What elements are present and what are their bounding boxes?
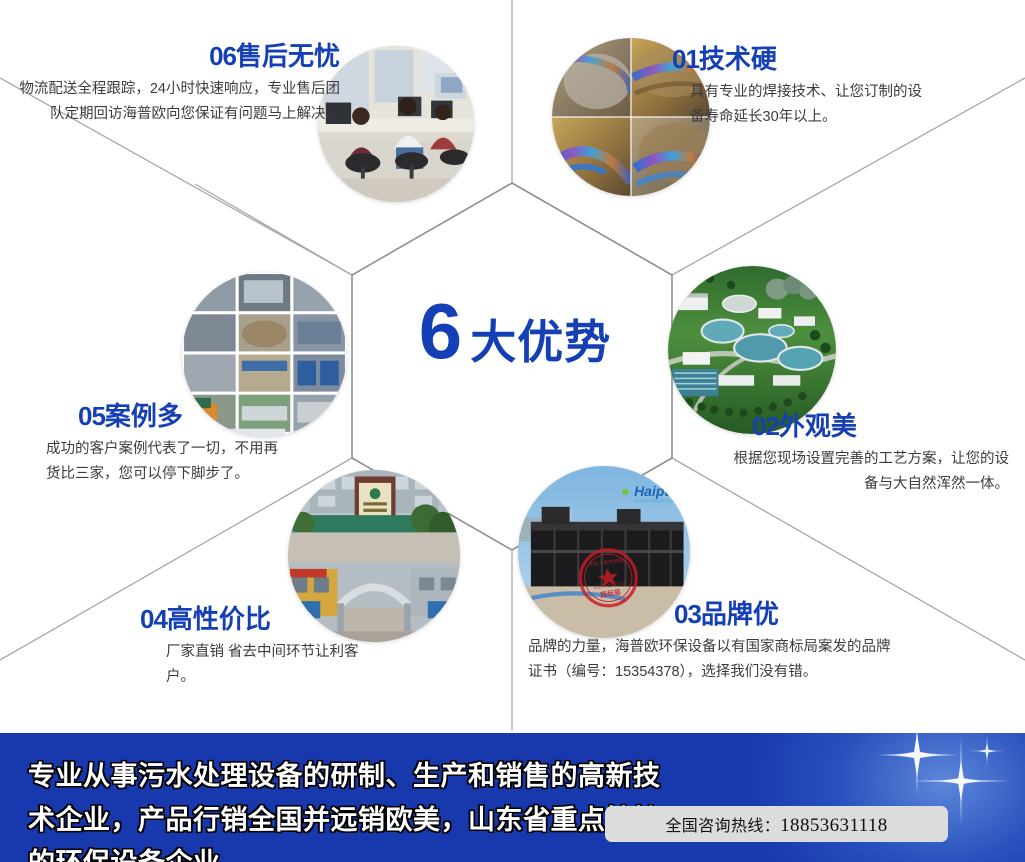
feature-01-body: 具有专业的焊接技术、让您订制的设备寿命延长30年以上。 [690,80,935,131]
feature-03-number: 03 [674,599,701,629]
feature-05-title: 05案例多 [78,402,318,431]
hotline-box[interactable]: 全国咨询热线：18853631118 [605,806,948,842]
feature-04-title: 04高性价比 [140,605,410,634]
feature-05-body: 成功的客户案例代表了一切，不用再货比三家，您可以停下脚步了。 [46,437,278,488]
feature-block-01: 01技术硬 具有专业的焊接技术、让您订制的设备寿命延长30年以上。 [672,45,1007,130]
feature-02-body: 根据您现场设置完善的工艺方案，让您的设备与大自然浑然一体。 [724,447,1009,498]
center-number: 6 [419,292,460,370]
sparkle-star-icon [969,734,1005,768]
feature-02-number: 02 [752,411,779,441]
feature-block-05: 05案例多 成功的客户案例代表了一切，不用再货比三家，您可以停下脚步了。 [28,402,318,487]
feature-04-body: 厂家直销 省去中间环节让利客户。 [166,640,371,691]
customer-service-office-photo [318,46,474,202]
infographic-canvas: Haipuou 商标局 中华人民共和国 2014年11月21日 [0,0,1025,862]
feature-03-title: 03品牌优 [674,600,928,629]
center-text: 大优势 [470,319,611,365]
feature-05-title-text: 案例多 [105,401,183,431]
sparkle-icons [765,733,1025,862]
feature-04-title-text: 高性价比 [167,604,271,634]
feature-03-body: 品牌的力量，海普欧环保设备以有国家商标局案发的品牌证书（编号：15354378）… [528,635,900,686]
banner-glow [745,733,1025,862]
feature-06-body: 物流配送全程跟踪，24小时快速响应，专业售后团队定期回访海普欧向您保证有问题马上… [10,77,340,128]
banner-slogan: 专业从事污水处理设备的研制、生产和销售的高新技术企业，产品行销全国并远销欧美，山… [28,755,668,862]
hotline-text: 全国咨询热线：18853631118 [665,812,887,837]
feature-block-02: 02外观美 根据您现场设置完善的工艺方案，让您的设备与大自然浑然一体。 [724,412,1016,497]
feature-06-number: 06 [209,41,236,71]
hotline-label: 全国咨询热线： [665,818,780,835]
bottom-banner: 专业从事污水处理设备的研制、生产和销售的高新技术企业，产品行销全国并远销欧美，山… [0,733,1025,862]
feature-06-title-text: 售后无忧 [236,41,340,71]
feature-block-03: 03品牌优 品牌的力量，海普欧环保设备以有国家商标局案发的品牌证书（编号：153… [528,600,928,685]
center-headline: 6 大优势 [390,292,640,392]
feature-04-number: 04 [140,604,167,634]
feature-block-06: 06售后无忧 物流配送全程跟踪，24小时快速响应，专业售后团队定期回访海普欧向您… [10,42,340,127]
feature-block-04: 04高性价比 厂家直销 省去中间环节让利客户。 [140,605,410,690]
feature-03-title-text: 品牌优 [701,599,779,629]
feature-01-number: 01 [672,44,699,74]
feature-02-title-text: 外观美 [779,411,857,441]
hotline-number: 18853631118 [780,815,888,836]
feature-01-title: 01技术硬 [672,45,1007,74]
wastewater-plant-aerial-photo [668,266,836,434]
feature-02-title: 02外观美 [752,412,1016,441]
sparkle-star-icon [877,733,957,795]
feature-05-number: 05 [78,401,105,431]
feature-01-title-text: 技术硬 [699,44,777,74]
feature-06-title: 06售后无忧 [10,42,340,71]
